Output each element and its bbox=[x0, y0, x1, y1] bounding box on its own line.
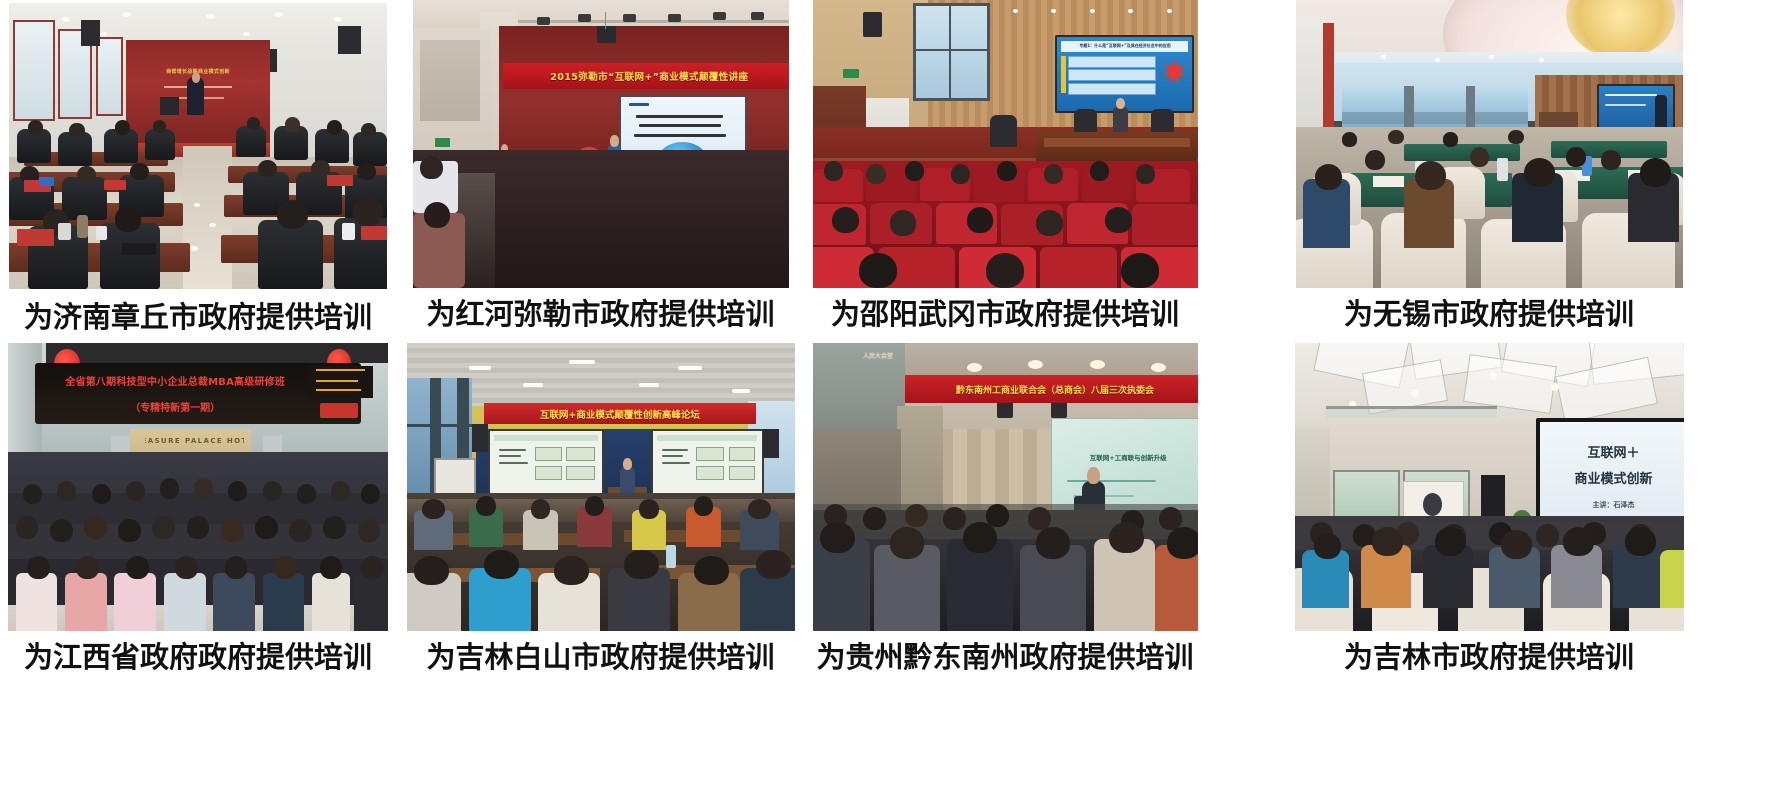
gallery-item-jilin-city[interactable]: 互联网＋ 商业模式创新 主讲：石泽杰 华智麟品（北京）管理咨询有限公司 bbox=[1205, 343, 1773, 672]
ceiling-sign: 人民大会堂 bbox=[843, 349, 912, 363]
stage-banner-mile: 2015弥勒市“互联网+”商业模式颠覆性讲座 bbox=[503, 63, 789, 89]
slide-title-line2: 商业模式创新 bbox=[1546, 467, 1682, 488]
projection-screen-left bbox=[488, 429, 605, 499]
training-photo-gallery: 商帮增长战略商业模式创新 bbox=[0, 0, 1773, 803]
caption-shaoyang-wugang: 为邵阳武冈市政府提供培训 bbox=[831, 300, 1179, 329]
slide-speaker: 主讲：石泽杰 bbox=[1546, 499, 1682, 512]
led-banner-line1: 全省第八期科技型中小企业总裁MBA高级研修班 bbox=[38, 369, 312, 392]
gallery-item-shaoyang-wugang[interactable]: 专题1：什么是“互联网+”及其在经济社会中的应用 bbox=[805, 0, 1205, 329]
photo-guizhou-qiandongnan[interactable]: 人民大会堂 黔东南州工商业联合会（总商会）八届三次执委会 bbox=[813, 343, 1198, 631]
stage-banner-baishan: 互联网+商业模式颠覆性创新高峰论坛 bbox=[484, 403, 756, 423]
photo-jinan-zhangqiu[interactable]: 商帮增长战略商业模式创新 bbox=[9, 3, 387, 289]
photo-jiangxi[interactable]: 全省第八期科技型中小企业总裁MBA高级研修班 （专精特新第一期） TREASUR… bbox=[8, 343, 388, 631]
caption-guizhou-qiandongnan: 为贵州黔东南州政府提供培训 bbox=[816, 643, 1193, 672]
photo-jilin-city[interactable]: 互联网＋ 商业模式创新 主讲：石泽杰 华智麟品（北京）管理咨询有限公司 bbox=[1295, 343, 1684, 631]
photo-honghe-mile[interactable]: 2015弥勒市“互联网+”商业模式颠覆性讲座 bbox=[413, 0, 789, 288]
gallery-item-jilin-baishan[interactable]: 互联网+商业模式颠覆性创新高峰论坛 bbox=[396, 343, 805, 672]
gallery-item-honghe-mile[interactable]: 2015弥勒市“互联网+”商业模式颠覆性讲座 bbox=[396, 0, 805, 329]
caption-jiangxi: 为江西省政府政府提供培训 bbox=[24, 643, 372, 672]
caption-jinan-zhangqiu: 为济南章丘市政府提供培训 bbox=[24, 303, 372, 332]
gallery-item-jiangxi[interactable]: 全省第八期科技型中小企业总裁MBA高级研修班 （专精特新第一期） TREASUR… bbox=[0, 343, 396, 672]
stage-banner-qiandongnan: 黔东南州工商业联合会（总商会）八届三次执委会 bbox=[905, 375, 1198, 404]
caption-jilin-baishan: 为吉林白山市政府提供培训 bbox=[426, 643, 774, 672]
photo-shaoyang-wugang[interactable]: 专题1：什么是“互联网+”及其在经济社会中的应用 bbox=[813, 0, 1198, 288]
projection-screen-right bbox=[651, 429, 764, 499]
caption-wuxi: 为无锡市政府提供培训 bbox=[1344, 300, 1634, 329]
photo-wuxi[interactable] bbox=[1296, 0, 1683, 288]
led-banner-line2: （专精特新第一期） bbox=[92, 395, 259, 418]
photo-jilin-baishan[interactable]: 互联网+商业模式颠覆性创新高峰论坛 bbox=[407, 343, 795, 631]
hotel-sign: TREASURE PALACE HOTEL bbox=[145, 432, 244, 449]
slide-title-line1: 互联网＋ bbox=[1546, 440, 1682, 461]
gallery-item-jinan-zhangqiu[interactable]: 商帮增长战略商业模式创新 bbox=[0, 0, 396, 332]
gallery-row-2: 全省第八期科技型中小企业总裁MBA高级研修班 （专精特新第一期） TREASUR… bbox=[0, 343, 1773, 672]
gallery-row-1: 商帮增长战略商业模式创新 bbox=[0, 0, 1773, 332]
caption-honghe-mile: 为红河弥勒市政府提供培训 bbox=[426, 300, 774, 329]
gallery-item-guizhou-qiandongnan[interactable]: 人民大会堂 黔东南州工商业联合会（总商会）八届三次执委会 bbox=[805, 343, 1205, 672]
gallery-item-wuxi[interactable]: 为无锡市政府提供培训 bbox=[1205, 0, 1773, 329]
caption-jilin-city: 为吉林市政府提供培训 bbox=[1344, 643, 1634, 672]
